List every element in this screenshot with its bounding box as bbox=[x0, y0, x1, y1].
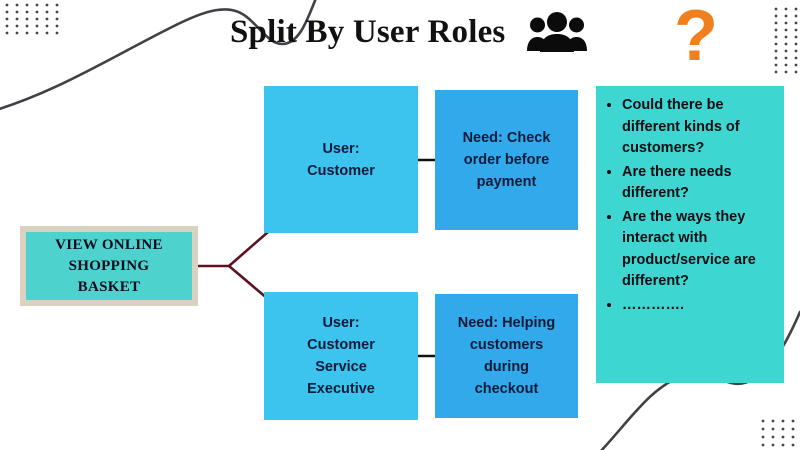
list-item: Could there be different kinds of custom… bbox=[622, 94, 778, 160]
line-3: during bbox=[484, 359, 529, 375]
dot-grid-top-left bbox=[4, 2, 64, 38]
dot-grid-bottom-right bbox=[760, 418, 800, 450]
line-1: User: bbox=[322, 141, 359, 157]
dot-grid-top-right bbox=[773, 6, 800, 80]
source-line-3: BASKET bbox=[78, 279, 141, 295]
user-role-label-customer: User: Customer bbox=[307, 138, 375, 182]
line-1: User: bbox=[322, 315, 359, 331]
questions-list: Could there be different kinds of custom… bbox=[604, 94, 778, 316]
source-line-1: VIEW ONLINE bbox=[55, 237, 163, 253]
line-2: Customer bbox=[307, 337, 375, 353]
questions-panel: Could there be different kinds of custom… bbox=[596, 86, 784, 383]
question-mark-icon: ? bbox=[668, 0, 724, 74]
line-2: Customer bbox=[307, 163, 375, 179]
line-2: customers bbox=[470, 337, 543, 353]
line-4: checkout bbox=[475, 381, 539, 397]
need-box-check-order[interactable]: Need: Check order before payment bbox=[435, 90, 578, 230]
list-item: Are the ways they interact with product/… bbox=[622, 206, 778, 293]
line-3: Service bbox=[315, 359, 367, 375]
source-line-2: SHOPPING bbox=[69, 258, 150, 274]
source-step-label: VIEW ONLINE SHOPPING BASKET bbox=[55, 235, 163, 298]
need-box-helping-customers[interactable]: Need: Helping customers during checkout bbox=[435, 294, 578, 418]
list-item: …………. bbox=[622, 294, 778, 317]
page-title: Split By User Roles bbox=[230, 16, 505, 49]
slide-canvas: Split By User Roles ? VIEW ONLINE SHOPPI… bbox=[0, 0, 800, 450]
source-step-box[interactable]: VIEW ONLINE SHOPPING BASKET bbox=[20, 226, 198, 306]
user-role-label-cse: User: Customer Service Executive bbox=[307, 312, 375, 400]
people-group-icon bbox=[527, 11, 587, 53]
list-item: Are there needs different? bbox=[622, 161, 778, 205]
line-3: payment bbox=[477, 174, 537, 190]
need-label-helping-customers: Need: Helping customers during checkout bbox=[458, 312, 555, 400]
need-label-check-order: Need: Check order before payment bbox=[463, 127, 551, 193]
title-row: Split By User Roles bbox=[230, 4, 730, 60]
line-2: order before bbox=[464, 152, 549, 168]
line-1: Need: Check bbox=[463, 130, 551, 146]
line-1: Need: Helping bbox=[458, 315, 555, 331]
line-4: Executive bbox=[307, 381, 375, 397]
user-role-box-customer[interactable]: User: Customer bbox=[264, 86, 418, 233]
user-role-box-customer-service-executive[interactable]: User: Customer Service Executive bbox=[264, 292, 418, 420]
